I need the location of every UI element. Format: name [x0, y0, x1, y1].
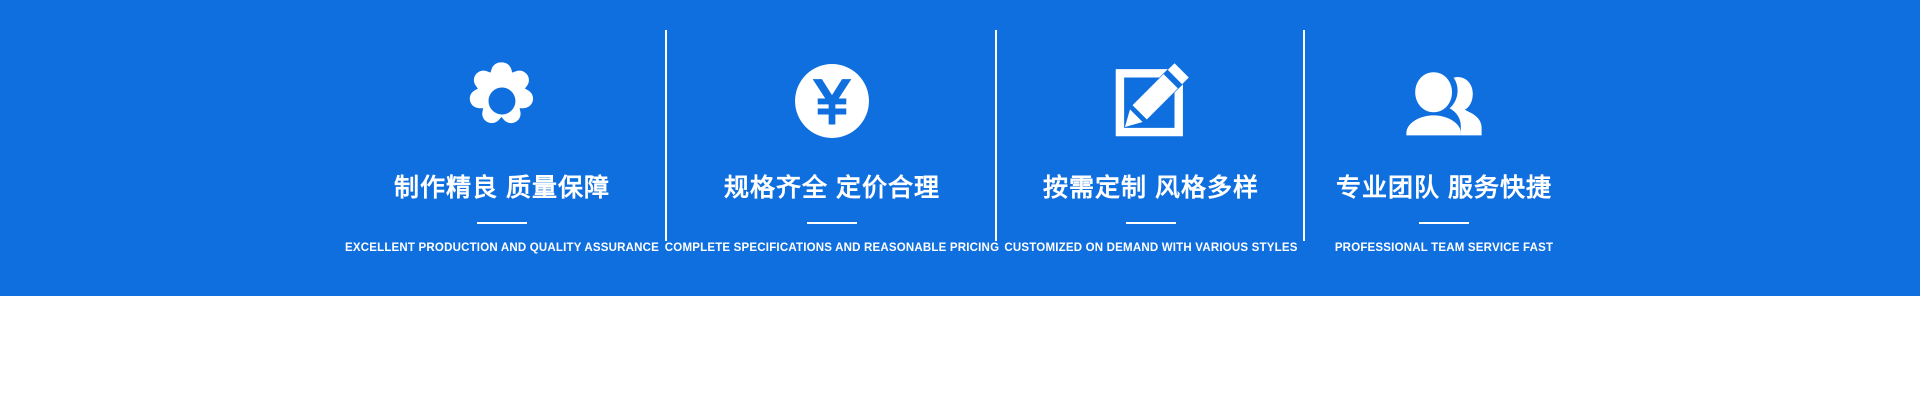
feature-item-customization[interactable]: 按需定制 风格多样 CUSTOMIZED ON DEMAND WITH VARI… [997, 0, 1305, 296]
edit-pencil-square-icon [1105, 55, 1197, 147]
feature-title: 专业团队 服务快捷 [1336, 173, 1552, 203]
title-rule [1126, 222, 1176, 224]
title-rule [477, 222, 527, 224]
feature-subtitle: EXCELLENT PRODUCTION AND QUALITY ASSURAN… [345, 242, 659, 254]
feature-title: 规格齐全 定价合理 [724, 173, 940, 203]
feature-subtitle: COMPLETE SPECIFICATIONS AND REASONABLE P… [665, 242, 999, 254]
gear-icon [456, 55, 548, 147]
feature-item-pricing[interactable]: 规格齐全 定价合理 COMPLETE SPECIFICATIONS AND RE… [667, 0, 997, 296]
feature-subtitle: PROFESSIONAL TEAM SERVICE FAST [1335, 242, 1553, 254]
feature-title: 按需定制 风格多样 [1043, 173, 1259, 203]
feature-subtitle: CUSTOMIZED ON DEMAND WITH VARIOUS STYLES [1004, 242, 1297, 254]
feature-title: 制作精良 质量保障 [394, 173, 610, 203]
yen-circle-icon [786, 55, 878, 147]
users-icon [1398, 55, 1490, 147]
title-rule [807, 222, 857, 224]
feature-list: 制作精良 质量保障 EXCELLENT PRODUCTION AND QUALI… [0, 0, 1920, 296]
title-rule [1419, 222, 1469, 224]
feature-item-production[interactable]: 制作精良 质量保障 EXCELLENT PRODUCTION AND QUALI… [337, 0, 667, 296]
feature-item-team[interactable]: 专业团队 服务快捷 PROFESSIONAL TEAM SERVICE FAST [1305, 0, 1583, 296]
feature-banner: 制作精良 质量保障 EXCELLENT PRODUCTION AND QUALI… [0, 0, 1920, 401]
